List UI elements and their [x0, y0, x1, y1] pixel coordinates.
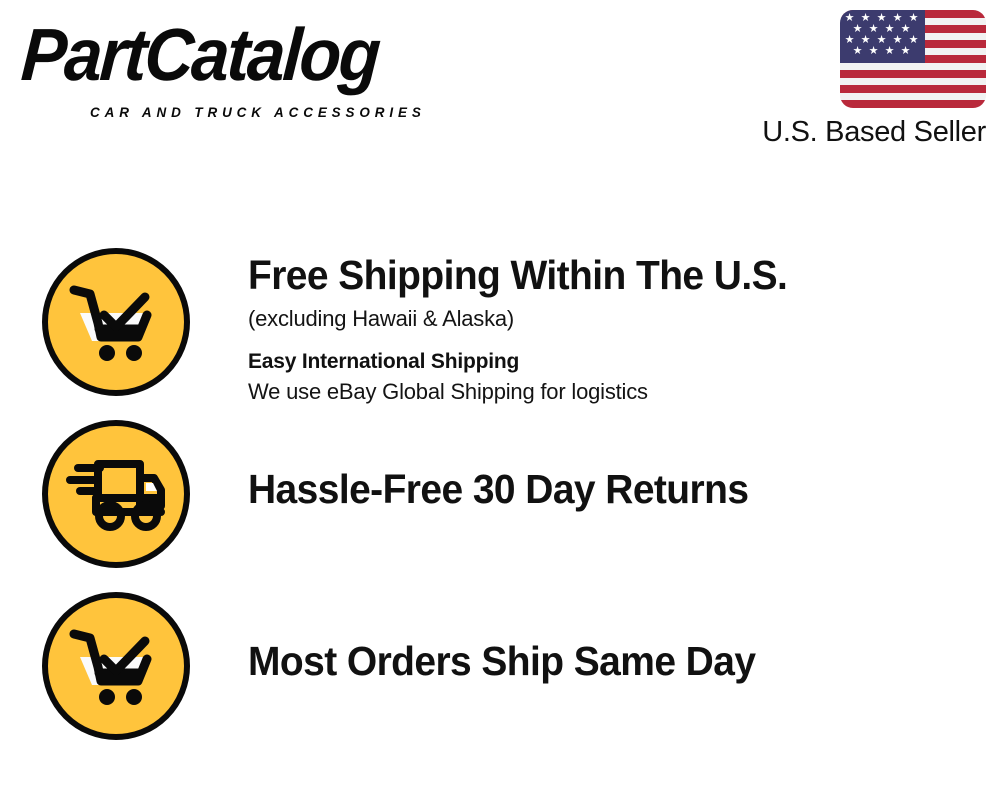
- brand-logo[interactable]: PartCatalog CAR AND TRUCK ACCESSORIES: [22, 18, 492, 118]
- shopping-cart-check-icon: [42, 248, 190, 396]
- flag-star: ★: [900, 46, 911, 57]
- feature-headline: Free Shipping Within The U.S.: [248, 252, 962, 298]
- feature-subnote: We use eBay Global Shipping for logistic…: [248, 377, 1000, 407]
- flag-star: ★: [852, 46, 863, 57]
- flag-star: ★: [868, 46, 879, 57]
- feature-row-same-day-ship: Most Orders Ship Same Day: [0, 592, 1000, 740]
- feature-text-block: Hassle-Free 30 Day Returns: [248, 420, 1000, 512]
- feature-text-block: Most Orders Ship Same Day: [248, 592, 1000, 684]
- flag-stripe: [840, 100, 986, 108]
- flag-stripe: [840, 63, 986, 71]
- feature-subline: (excluding Hawaii & Alaska): [248, 304, 1000, 334]
- shopping-cart-check-icon: [42, 592, 190, 740]
- promo-banner: PartCatalog CAR AND TRUCK ACCESSORIES ★ …: [0, 0, 1000, 800]
- feature-headline: Hassle-Free 30 Day Returns: [248, 466, 962, 512]
- feature-headline: Most Orders Ship Same Day: [248, 638, 962, 684]
- delivery-truck-icon: [42, 420, 190, 568]
- us-based-seller-badge: ★ ★ ★ ★ ★ ★ ★ ★ ★ ★ ★ ★ ★ ★ ★ ★ ★ ★ U.S.…: [726, 10, 986, 149]
- flag-stripe: [840, 93, 986, 101]
- brand-tagline: CAR AND TRUCK ACCESSORIES: [90, 104, 426, 120]
- feature-row-returns: Hassle-Free 30 Day Returns: [0, 420, 1000, 568]
- flag-canton: ★ ★ ★ ★ ★ ★ ★ ★ ★ ★ ★ ★ ★ ★ ★ ★ ★ ★: [840, 10, 925, 63]
- flag-star: ★: [884, 46, 895, 57]
- flag-stripe: [840, 85, 986, 93]
- feature-row-free-shipping: Free Shipping Within The U.S. (excluding…: [0, 248, 1000, 407]
- brand-logo-text: PartCatalog: [19, 18, 381, 92]
- flag-stripe: [840, 70, 986, 78]
- us-flag-icon: ★ ★ ★ ★ ★ ★ ★ ★ ★ ★ ★ ★ ★ ★ ★ ★ ★ ★: [840, 10, 986, 108]
- feature-subhead: Easy International Shipping: [248, 348, 1000, 376]
- feature-text-block: Free Shipping Within The U.S. (excluding…: [248, 248, 1000, 407]
- flag-stripe: [840, 78, 986, 86]
- us-based-seller-label: U.S. Based Seller: [726, 116, 986, 149]
